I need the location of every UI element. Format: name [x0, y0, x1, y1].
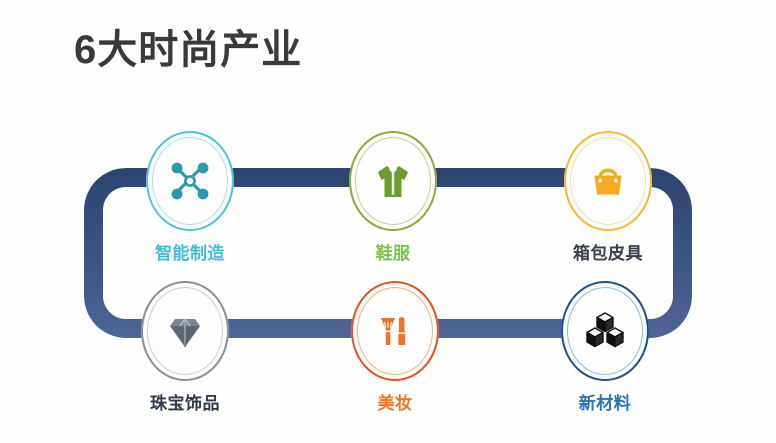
node-label: 智能制造: [125, 239, 255, 264]
node-label: 珠宝饰品: [120, 389, 250, 414]
node-ring: [146, 131, 234, 231]
node-ring: [561, 281, 649, 381]
stacked-cubes-icon: [561, 281, 649, 381]
node-label: 箱包皮具: [543, 239, 673, 264]
handbag-icon: [564, 131, 652, 231]
node-label: 新材料: [540, 389, 670, 414]
sweater-icon: [349, 131, 437, 231]
infographic-canvas: 6大时尚产业: [0, 0, 776, 443]
page-title: 6大时尚产业: [74, 30, 302, 70]
node-ring: [141, 281, 229, 381]
node-beauty-cosmetics[interactable]: 美妆: [330, 281, 460, 414]
node-ring: [351, 281, 439, 381]
node-ring: [349, 131, 437, 231]
node-label: 美妆: [330, 389, 460, 414]
node-jewelry-accessories[interactable]: 珠宝饰品: [120, 281, 250, 414]
node-footwear-apparel[interactable]: 鞋服: [328, 131, 458, 264]
node-intelligent-manufacturing[interactable]: 智能制造: [125, 131, 255, 264]
node-label: 鞋服: [328, 239, 458, 264]
node-ring: [564, 131, 652, 231]
node-new-materials[interactable]: 新材料: [540, 281, 670, 414]
makeup-brush-lipstick-icon: [351, 281, 439, 381]
node-bags-leather-goods[interactable]: 箱包皮具: [543, 131, 673, 264]
diamond-icon: [141, 281, 229, 381]
network-nodes-icon: [146, 131, 234, 231]
